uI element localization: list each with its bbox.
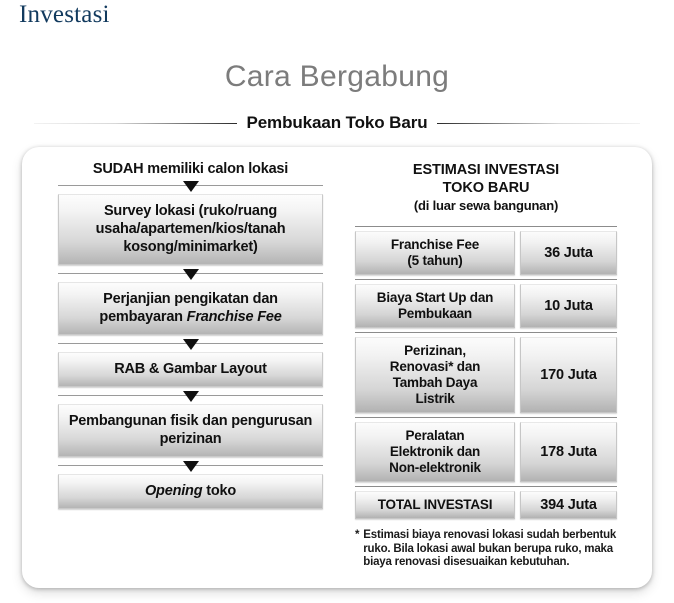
table-cell-value: 10 Juta — [520, 284, 617, 328]
table-row: Perizinan,Renovasi* danTambah DayaListri… — [355, 332, 617, 413]
table-cell-value: 394 Juta — [520, 491, 617, 519]
estimate-heading-line2: TOKO BARU — [355, 179, 617, 197]
divider-line-left — [34, 123, 237, 124]
arrow-down-icon — [183, 339, 199, 350]
main-heading: Cara Bergabung — [0, 60, 674, 94]
divider-line-right — [437, 123, 640, 124]
arrow-down-icon — [183, 391, 199, 402]
table-cell-value: 170 Juta — [520, 337, 617, 413]
page-title: Investasi — [19, 1, 110, 29]
flow-step-5-post: toko — [202, 483, 236, 499]
arrow-down-icon — [183, 461, 199, 472]
table-cell-value: 178 Juta — [520, 422, 617, 482]
flowchart-heading: SUDAH memiliki calon lokasi — [58, 161, 323, 177]
flow-step-2: Perjanjian pengikatan dan pembayaran Fra… — [58, 282, 323, 335]
sub-heading: Pembukaan Toko Baru — [237, 113, 436, 133]
flow-step-4: Pembangunan fisik dan pengurusan perizin… — [58, 404, 323, 457]
table-row: Biaya Start Up danPembukaan 10 Juta — [355, 279, 617, 328]
estimate-heading-line1: ESTIMASI INVESTASI — [355, 161, 617, 179]
arrow-down-icon — [183, 181, 199, 192]
estimate-subtitle: (di luar sewa bangunan) — [355, 198, 617, 213]
estimate-heading: ESTIMASI INVESTASI TOKO BARU — [355, 161, 617, 197]
flow-connector-4 — [58, 387, 323, 404]
flow-step-1: Survey lokasi (ruko/ruang usaha/aparteme… — [58, 194, 323, 265]
estimate-table: Franchise Fee(5 tahun) 36 Juta Biaya Sta… — [355, 226, 617, 519]
table-cell-label: Franchise Fee(5 tahun) — [355, 231, 515, 275]
flow-step-3: RAB & Gambar Layout — [58, 352, 323, 387]
table-row: Franchise Fee(5 tahun) 36 Juta — [355, 231, 617, 275]
sub-heading-row: Pembukaan Toko Baru — [34, 112, 640, 134]
flow-step-5: Opening toko — [58, 474, 323, 509]
table-cell-label: Biaya Start Up danPembukaan — [355, 284, 515, 328]
estimate-column: ESTIMASI INVESTASI TOKO BARU (di luar se… — [355, 161, 617, 570]
footnote-text: Estimasi biaya renovasi lokasi sudah ber… — [363, 529, 617, 570]
footnote: * Estimasi biaya renovasi lokasi sudah b… — [355, 529, 617, 570]
table-cell-label: PeralatanElektronik danNon-elektronik — [355, 422, 515, 482]
asterisk-icon: * — [355, 529, 363, 570]
table-cell-label: Perizinan,Renovasi* danTambah DayaListri… — [355, 337, 515, 413]
table-row-total: TOTAL INVESTASI 394 Juta — [355, 486, 617, 519]
flow-connector-5 — [58, 457, 323, 474]
flow-connector-2 — [58, 265, 323, 282]
table-cell-label: TOTAL INVESTASI — [355, 491, 515, 519]
table-row: PeralatanElektronik danNon-elektronik 17… — [355, 417, 617, 482]
content-panel: SUDAH memiliki calon lokasi Survey lokas… — [22, 147, 652, 588]
flow-step-2-emphasis: Franchise Fee — [187, 309, 282, 325]
flowchart-column: SUDAH memiliki calon lokasi Survey lokas… — [58, 161, 323, 509]
flow-step-5-emphasis: Opening — [145, 483, 202, 499]
flow-connector-1 — [58, 177, 323, 194]
flow-connector-3 — [58, 335, 323, 352]
arrow-down-icon — [183, 269, 199, 280]
table-cell-value: 36 Juta — [520, 231, 617, 275]
